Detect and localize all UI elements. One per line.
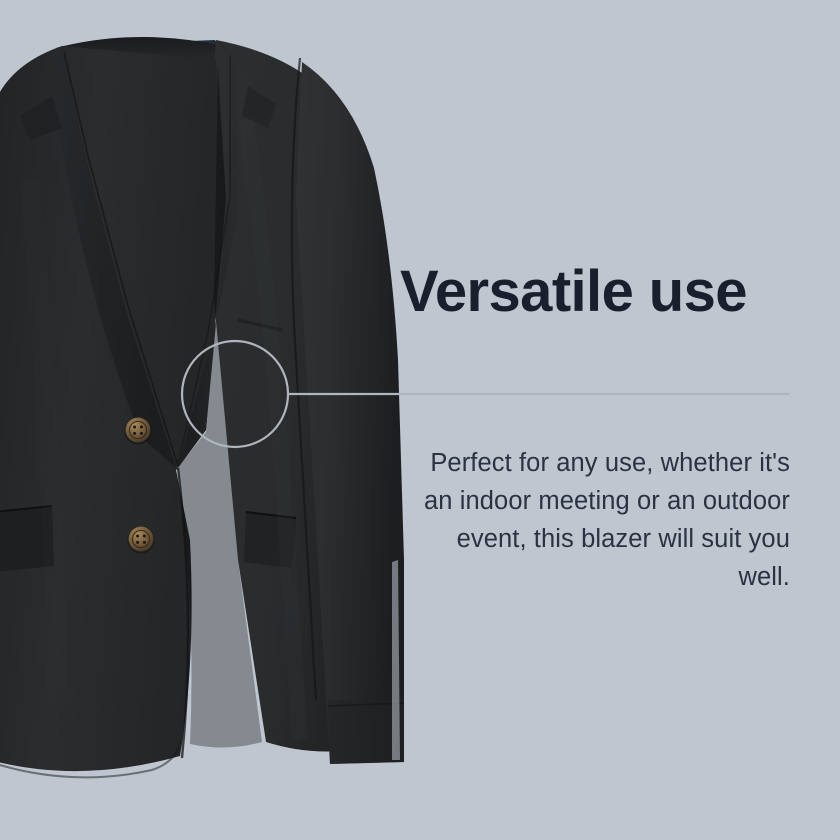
jacket-button bbox=[128, 527, 155, 554]
product-infographic: KENT ◇ PARK bbox=[0, 0, 840, 840]
text-block: Versatile use Perfect for any use, wheth… bbox=[400, 262, 790, 322]
jacket-button bbox=[125, 418, 152, 445]
body-copy: Perfect for any use, whether it's an ind… bbox=[400, 444, 790, 596]
headline: Versatile use bbox=[400, 262, 790, 322]
product-photo: KENT ◇ PARK bbox=[0, 0, 420, 840]
